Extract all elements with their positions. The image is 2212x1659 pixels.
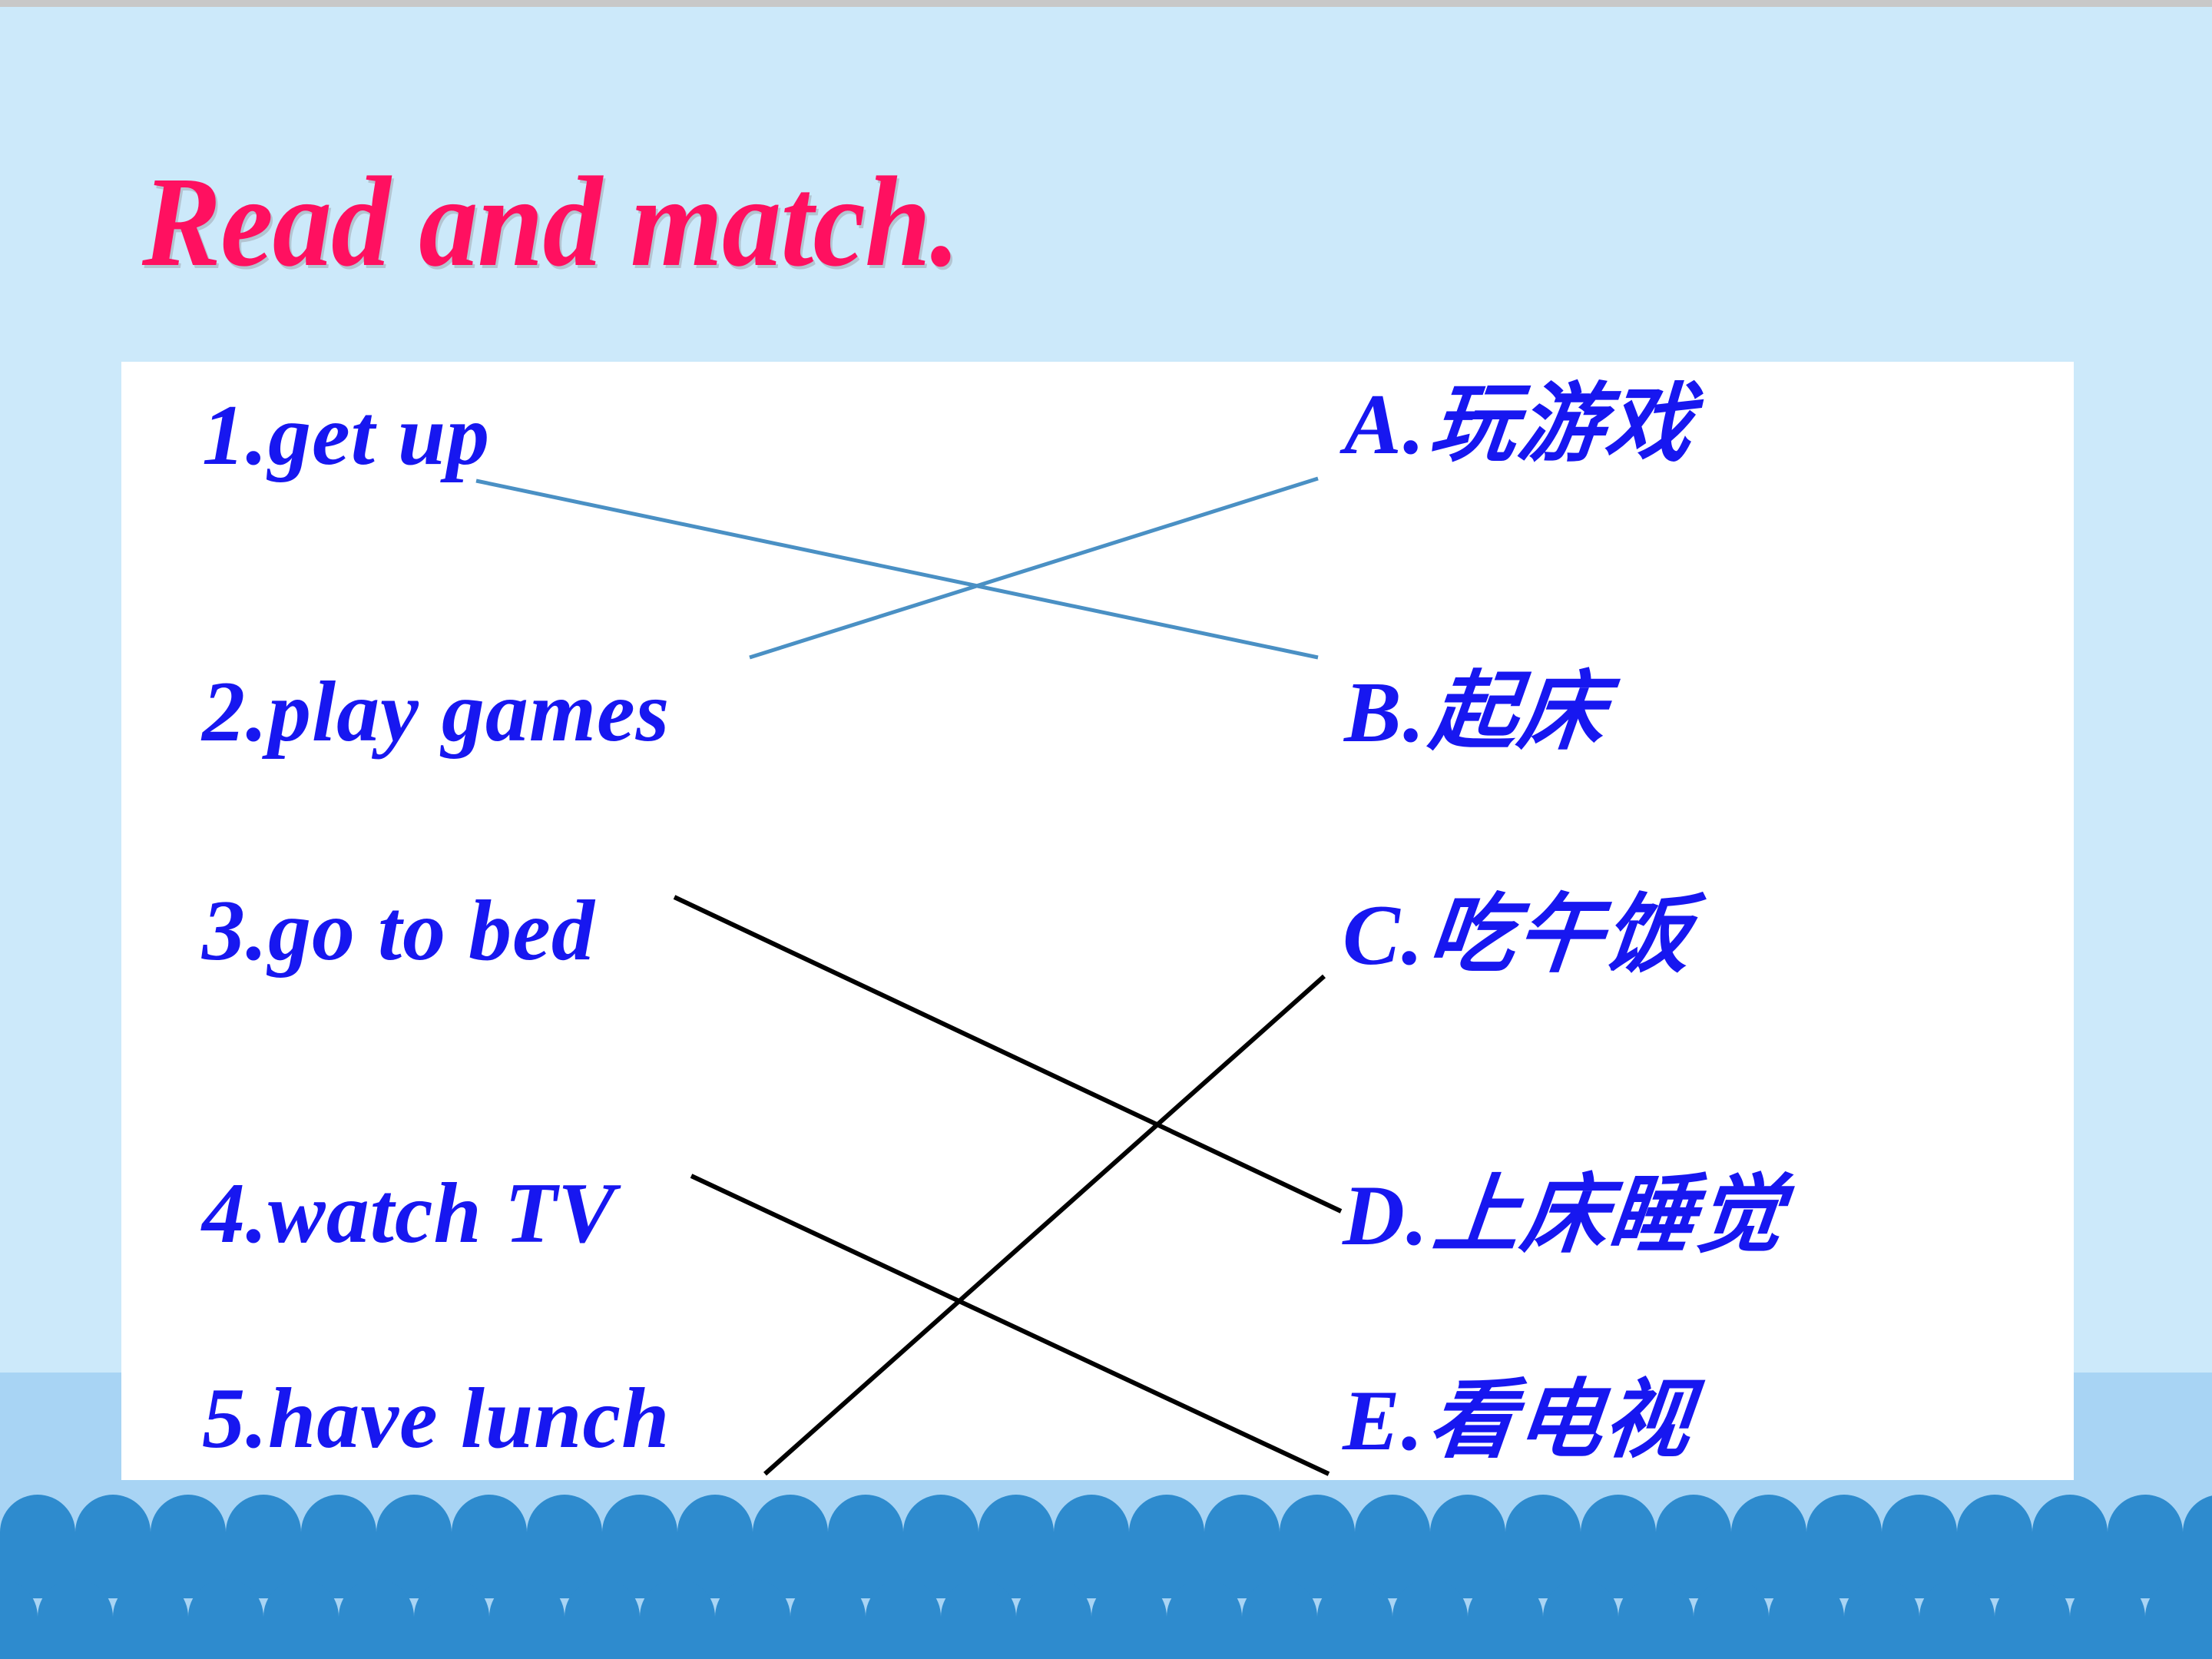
- left-item-4[interactable]: 4.watch TV: [202, 1171, 616, 1257]
- connector-line-1-to-B: [476, 481, 1318, 657]
- scallop-arch: [2070, 1579, 2145, 1659]
- left-item-3[interactable]: 3.go to bed: [202, 888, 595, 974]
- right-item-A[interactable]: A.玩游戏: [1344, 381, 1694, 468]
- scallop-arch: [339, 1579, 414, 1659]
- scallop-arch: [1995, 1579, 2070, 1659]
- page-title: Read and match.: [142, 157, 959, 286]
- scallop-arch: [1919, 1579, 1995, 1659]
- scallop-arch: [1091, 1579, 1167, 1659]
- right-item-A-letter: A.: [1344, 377, 1426, 472]
- scallop-arch: [1618, 1579, 1694, 1659]
- scallop-arch: [2145, 1579, 2212, 1659]
- scallop-arch: [489, 1579, 565, 1659]
- scallop-arch: [188, 1579, 263, 1659]
- right-item-B-text: 起床: [1426, 669, 1611, 755]
- scallop-arch: [1694, 1579, 1769, 1659]
- scallop-arch: [866, 1579, 941, 1659]
- right-item-B[interactable]: B.起床: [1344, 669, 1606, 756]
- right-item-C-letter: C.: [1343, 888, 1425, 983]
- scallop-arch: [1242, 1579, 1317, 1659]
- scallop-arch: [1317, 1579, 1392, 1659]
- scallop-arch: [113, 1579, 188, 1659]
- scallop-arch: [1844, 1579, 1919, 1659]
- scallop-arch: [1167, 1579, 1242, 1659]
- scallop-arch: [1016, 1579, 1091, 1659]
- right-item-D-text: 上床睡觉: [1429, 1172, 1789, 1258]
- top-gray-strip: [0, 0, 2212, 7]
- scallop-arch: [1392, 1579, 1468, 1659]
- right-item-B-letter: B.: [1344, 665, 1426, 760]
- scallop-decoration: [0, 1482, 2212, 1659]
- scallop-arch: [1769, 1579, 1844, 1659]
- scallop-arch: [414, 1579, 489, 1659]
- left-item-5[interactable]: 5.have lunch: [202, 1376, 670, 1462]
- right-item-E-text: 看电视: [1425, 1377, 1697, 1463]
- right-item-E-letter: E.: [1343, 1373, 1425, 1469]
- scallop-arch: [715, 1579, 790, 1659]
- right-item-D-letter: D.: [1343, 1168, 1429, 1263]
- scallop-arch: [640, 1579, 715, 1659]
- connector-line-3-to-D: [674, 897, 1341, 1211]
- right-item-C-text: 吃午饭: [1425, 892, 1697, 978]
- left-item-1[interactable]: 1.get up: [202, 392, 490, 478]
- left-item-2[interactable]: 2.play games: [202, 669, 670, 755]
- connector-line-5-to-C: [765, 976, 1324, 1474]
- right-item-A-text: 玩游戏: [1426, 381, 1698, 467]
- scallop-arch: [263, 1579, 339, 1659]
- scallop-arch: [1468, 1579, 1543, 1659]
- scallop-row-bottom: [0, 1579, 2212, 1659]
- matching-exercise-panel: 1.get up 2.play games 3.go to bed 4.watc…: [121, 362, 2074, 1480]
- right-item-E[interactable]: E.看电视: [1343, 1377, 1692, 1464]
- connector-line-2-to-A: [750, 478, 1318, 657]
- connector-line-4-to-E: [691, 1176, 1329, 1474]
- slide-canvas: Read and match. 1.get up 2.play games 3.…: [0, 0, 2212, 1659]
- scallop-arch: [790, 1579, 866, 1659]
- scallop-arch: [941, 1579, 1016, 1659]
- right-item-D[interactable]: D.上床睡觉: [1343, 1172, 1784, 1259]
- right-item-C[interactable]: C.吃午饭: [1343, 892, 1692, 979]
- scallop-arch: [38, 1579, 113, 1659]
- scallop-arch: [0, 1579, 38, 1659]
- scallop-arch: [1543, 1579, 1618, 1659]
- scallop-arch: [565, 1579, 640, 1659]
